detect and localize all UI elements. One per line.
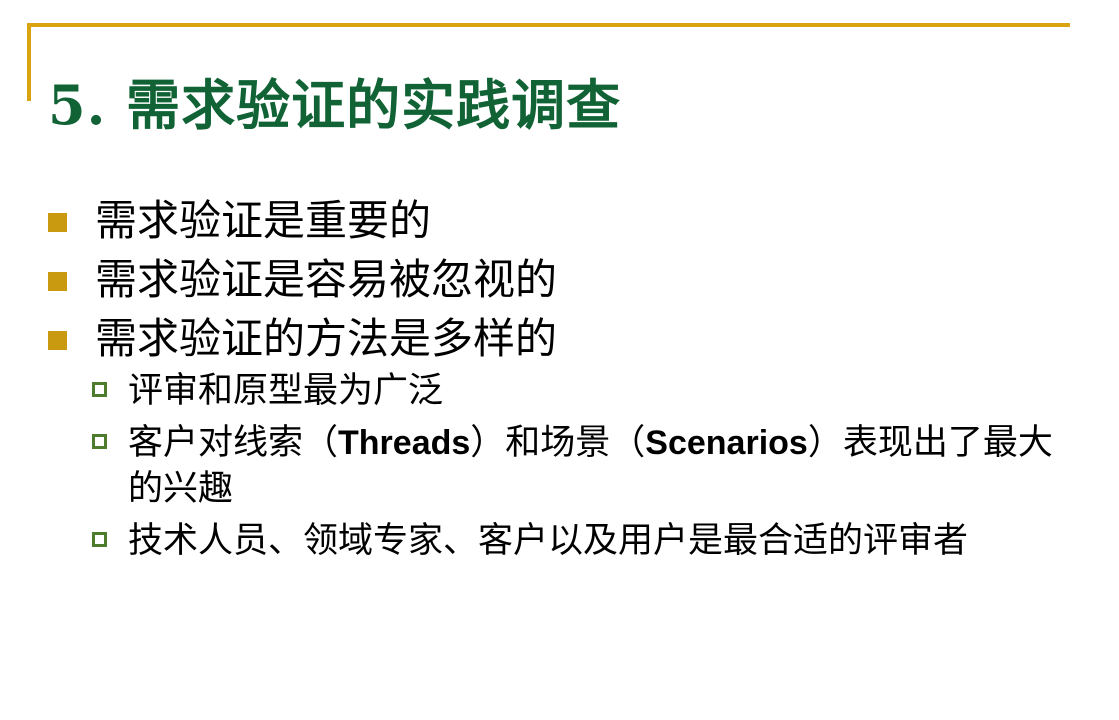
list-item: 需求验证是重要的 bbox=[0, 196, 1119, 246]
hollow-square-bullet-icon bbox=[92, 532, 107, 547]
bullet-text: 需求验证是重要的 bbox=[95, 196, 1119, 246]
sub-bullet-text-latin-threads: Threads bbox=[338, 424, 470, 462]
filled-square-bullet-icon bbox=[48, 213, 67, 232]
presentation-slide: 5. 需求验证的实践调查 需求验证是重要的 需求验证是容易被忽视的 需求验证的方… bbox=[0, 0, 1119, 720]
bullet-text: 需求验证是容易被忽视的 bbox=[95, 255, 1119, 305]
sub-list-item: 客户对线索（Threads）和场景（Scenarios）表现出了最大的兴趣 bbox=[95, 420, 1060, 512]
sub-bullet-text-segment: 客户对线索（ bbox=[128, 423, 338, 463]
sub-list-item: 评审和原型最为广泛 bbox=[95, 368, 1060, 414]
filled-square-bullet-icon bbox=[48, 331, 67, 350]
bullet-list: 需求验证是重要的 需求验证是容易被忽视的 需求验证的方法是多样的 评审和原型最为… bbox=[0, 196, 1119, 573]
bullet-text: 需求验证的方法是多样的 bbox=[95, 314, 1119, 364]
title-top-rule bbox=[27, 23, 1070, 27]
sub-bullet-list: 评审和原型最为广泛 客户对线索（Threads）和场景（Scenarios）表现… bbox=[95, 368, 1119, 564]
sub-bullet-text: 客户对线索（Threads）和场景（Scenarios）表现出了最大的兴趣 bbox=[128, 420, 1060, 512]
list-item: 需求验证是容易被忽视的 bbox=[0, 255, 1119, 305]
hollow-square-bullet-icon bbox=[92, 382, 107, 397]
sub-bullet-text: 技术人员、领域专家、客户以及用户是最合适的评审者 bbox=[128, 518, 1060, 564]
sub-bullet-text-segment: 评审和原型最为广泛 bbox=[128, 371, 443, 411]
sub-bullet-text: 评审和原型最为广泛 bbox=[128, 368, 1060, 414]
filled-square-bullet-icon bbox=[48, 272, 67, 291]
list-item: 需求验证的方法是多样的 评审和原型最为广泛 客户对线索（Threads）和场景（… bbox=[0, 314, 1119, 564]
sub-list-item: 技术人员、领域专家、客户以及用户是最合适的评审者 bbox=[95, 518, 1060, 564]
title-left-rule bbox=[27, 23, 31, 101]
sub-bullet-text-segment: ）和场景（ bbox=[470, 423, 645, 463]
page-title: 5. 需求验证的实践调查 bbox=[48, 72, 1048, 138]
hollow-square-bullet-icon bbox=[92, 434, 107, 449]
sub-bullet-text-segment: 技术人员、领域专家、客户以及用户是最合适的评审者 bbox=[128, 521, 968, 561]
sub-bullet-text-latin-scenarios: Scenarios bbox=[645, 424, 808, 462]
